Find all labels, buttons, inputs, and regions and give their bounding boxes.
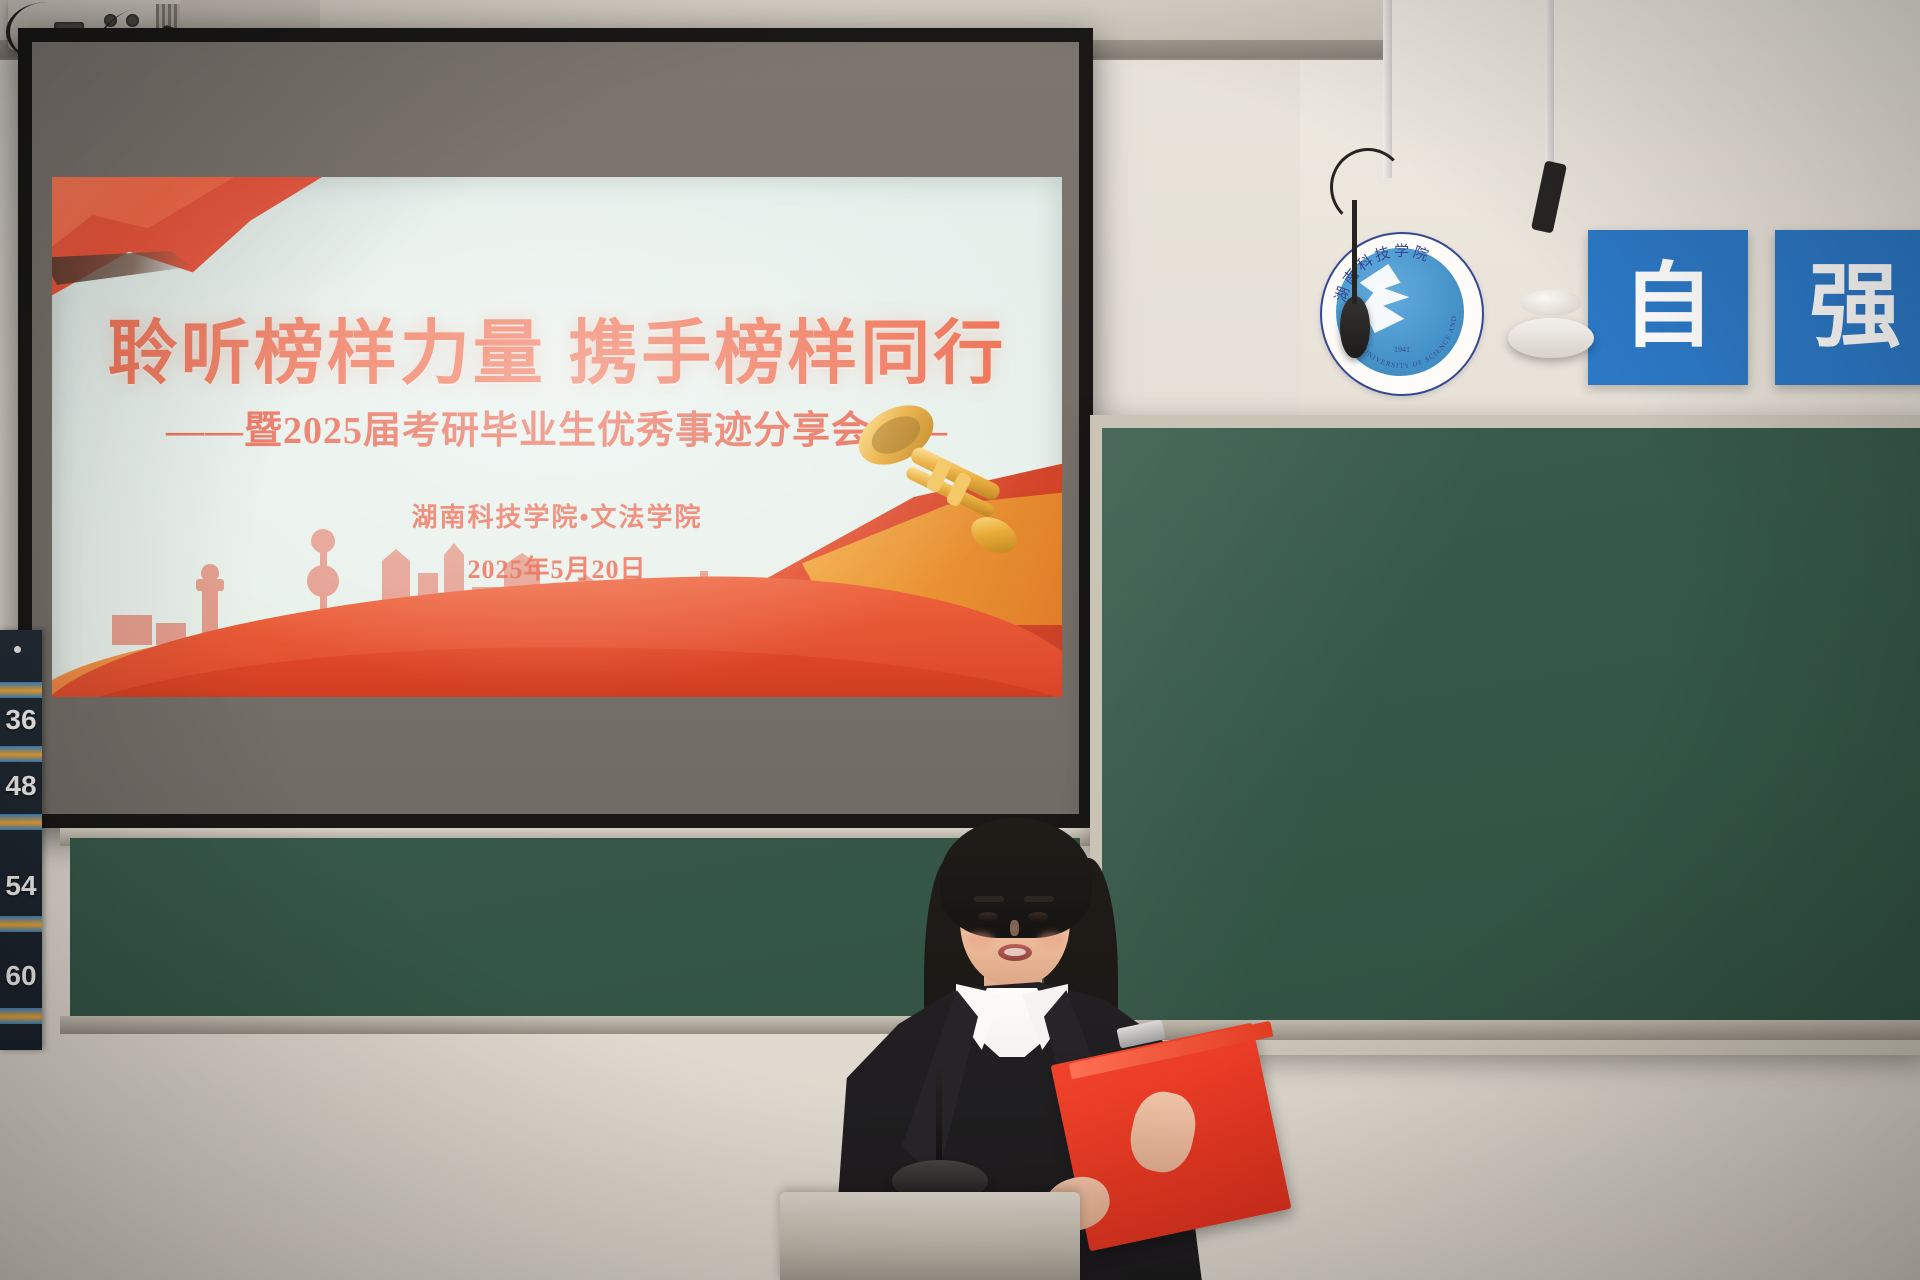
ruler-band-5 [0,1008,42,1024]
hanging-speaker [1508,318,1594,358]
microphone-arm [1330,148,1406,226]
blackboard [1102,428,1920,1028]
projection-screen-surface: 聆听榜样力量 携手榜样同行 ——暨2025届考研毕业生优秀事迹分享会—— 湖南科… [32,42,1079,814]
ruler-band-1 [0,682,42,698]
blackboard-sheen [1102,428,1920,1028]
wall-banner-character-1: 自 [1588,230,1748,385]
ruler-band-2 [0,746,42,762]
ruler-number-60: 60 [0,960,42,992]
ruler-band-3 [0,814,42,830]
podium-microphone-stem [936,1060,942,1170]
wall-banner-panel-1: 自 [1588,230,1748,385]
ruler-marker-dot [14,646,21,653]
wall-banner-character-2: 强 [1775,230,1920,385]
hanging-microphone [1340,296,1370,358]
svg-text:湖南科技学院: 湖南科技学院 [1332,243,1434,304]
eye-left [978,912,998,921]
mouth-inner [1004,948,1026,956]
eyebrow-left [974,896,1004,902]
svg-text:1941: 1941 [1394,345,1410,354]
golden-trumpet-icon [844,399,1034,579]
slide-title: 聆听榜样力量 携手榜样同行 [52,297,1062,398]
eye-right [1028,912,1048,921]
ruler-number-54: 54 [0,870,42,902]
height-ruler-strip: 36 48 54 60 [0,630,42,1050]
nose [1010,920,1019,936]
speaker-cone [1520,290,1582,316]
presentation-slide: 聆听榜样力量 携手榜样同行 ——暨2025届考研毕业生优秀事迹分享会—— 湖南科… [52,177,1062,697]
ruler-number-36: 36 [0,704,42,736]
wall-banner-panel-2: 强 [1775,230,1920,385]
blush-right [1038,932,1066,948]
photo-scene: 聆听榜样力量 携手榜样同行 ——暨2025届考研毕业生优秀事迹分享会—— 湖南科… [0,0,1920,1280]
microphone-stem [1352,200,1357,304]
ruler-number-48: 48 [0,770,42,802]
blush-left [966,932,994,948]
speaker-hanging-rod [1545,0,1554,170]
ruler-band-4 [0,916,42,932]
eyebrow-right [1024,896,1054,902]
podium [780,1192,1080,1280]
projection-screen-frame: 聆听榜样力量 携手榜样同行 ——暨2025届考研毕业生优秀事迹分享会—— 湖南科… [18,28,1093,828]
